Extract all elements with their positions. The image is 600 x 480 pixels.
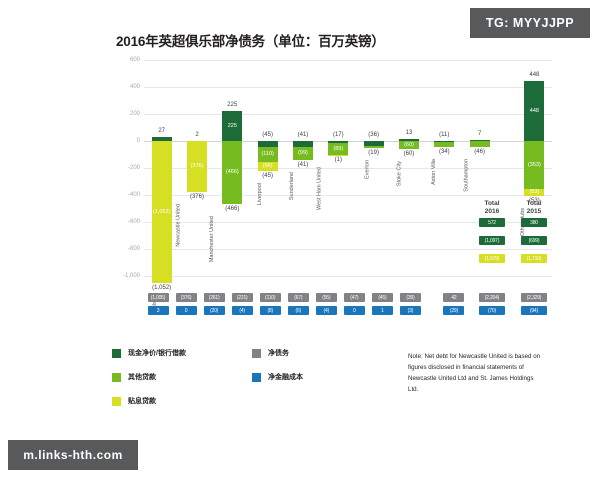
stacked-bar[interactable]: (89) — [328, 60, 348, 276]
row-value-pill: (4) — [232, 306, 253, 315]
row-total-pill: (94) — [521, 306, 547, 315]
category-label: Southampton — [463, 159, 469, 192]
bar-slot: (45)(45)Liverpool(110)(66) — [250, 60, 285, 276]
bar-segment-label: (66) — [258, 163, 278, 169]
chart-title: 2016年英超俱乐部净债务（单位：百万英镑） — [116, 30, 552, 50]
bar-slot: (36)(19)Everton — [356, 60, 391, 276]
category-label: West Ham United — [317, 167, 323, 210]
legend-label: 贴息贷款 — [128, 396, 156, 406]
row-cell: (110) — [256, 293, 284, 302]
screenshot-root: TG: MYYJJPP m.links-hth.com 2016年英超俱乐部净债… — [0, 0, 600, 480]
row-value-pill: 3 — [148, 306, 169, 315]
row-value-pill: (45) — [372, 293, 393, 302]
row-cell: (1,005) — [144, 293, 172, 302]
bar-segment: 448 — [524, 81, 544, 141]
row-value-pill: (1,005) — [148, 293, 169, 302]
row-total-cell: (2,329) — [516, 293, 552, 302]
y-tick-label: 600 — [130, 57, 140, 63]
y-tick-label: -1,000 — [123, 273, 140, 279]
row-value-pill: (55) — [316, 293, 337, 302]
row-cell: (39) — [396, 293, 424, 302]
legend-item[interactable]: 净债务 — [252, 348, 392, 358]
legend-swatch — [112, 349, 121, 358]
stacked-bar[interactable]: (99) — [293, 60, 313, 276]
y-tick-label: -200 — [128, 165, 140, 171]
row-cell: (8) — [256, 306, 284, 315]
category-label: Newcastle United — [176, 204, 182, 247]
totals-pill-row: 572380 — [474, 218, 552, 227]
row-value-pill: (4) — [316, 306, 337, 315]
row-cell: (221) — [228, 293, 256, 302]
bar-segment-label: (89) — [328, 146, 348, 152]
bar-segment: (53) — [524, 189, 544, 196]
row-cell: (20) — [200, 306, 228, 315]
row-total-cell: (94) — [516, 306, 552, 315]
bar-segment-label: 225 — [222, 123, 242, 129]
bar-segment — [434, 142, 454, 147]
totals-header: Total 2016 Total 2015 — [474, 200, 552, 216]
row-cell: (261) — [200, 293, 228, 302]
row-totals: (70)(94) — [474, 306, 552, 315]
bar-slot: 13(60)Stoke City(60) — [391, 60, 426, 276]
stacked-bar[interactable] — [434, 60, 454, 276]
row-cell: (67) — [284, 293, 312, 302]
row-cell: 1 — [368, 306, 396, 315]
footnote: Note: Net debt for Newcastle United is b… — [408, 352, 543, 395]
row-total-pill: (70) — [479, 306, 505, 315]
row-cell: 0 — [172, 306, 200, 315]
row-cell: (47) — [340, 293, 368, 302]
legend-label: 净债务 — [268, 348, 289, 358]
bar-segment: (99) — [293, 147, 313, 160]
y-tick-label: 200 — [130, 111, 140, 117]
bar-slot: 27(1,052)Chelsea(1,052) — [144, 60, 179, 276]
y-tick-label: -800 — [128, 246, 140, 252]
legend-item[interactable]: 净金融成本 — [252, 372, 392, 382]
totals-cell: 572 — [474, 218, 510, 227]
stacked-bar[interactable]: (110)(66) — [258, 60, 278, 276]
legend-column-left: 现金净价/银行借款其他贷款贴息贷款 — [112, 348, 252, 420]
legend-swatch — [112, 397, 121, 406]
row-cell: 0 — [340, 306, 368, 315]
legend-swatch — [112, 373, 121, 382]
row-value-pill: (29) — [443, 306, 464, 315]
stacked-bar[interactable]: (1,052) — [152, 60, 172, 276]
bar-segment: (466) — [222, 141, 242, 204]
row-cell: (4) — [312, 306, 340, 315]
y-tick-label: 0 — [137, 138, 140, 144]
bar-segment-label: (60) — [399, 142, 419, 148]
row-cell: (29) — [440, 306, 468, 315]
bar-segment: (376) — [187, 141, 207, 192]
row-value-pill: (3) — [400, 306, 421, 315]
row-total-pill: (2,204) — [479, 293, 505, 302]
row-cell: (376) — [172, 293, 200, 302]
totals-cell: (1,097) — [474, 236, 510, 245]
totals-pill: (1,710) — [521, 254, 547, 263]
row-cell: 42 — [440, 293, 468, 302]
row-value-pill: 0 — [344, 306, 365, 315]
bar-segment — [470, 141, 490, 147]
totals-pill-row: (1,679)(1,710) — [474, 254, 552, 263]
bar-segment-label: (1,052) — [152, 209, 172, 215]
bar-segment-label: (99) — [293, 150, 313, 156]
y-axis-labels: 6004002000-200-400-600-800-1,000 — [112, 60, 142, 276]
row-cell: 3 — [144, 306, 172, 315]
bar-segment: 225 — [222, 111, 242, 141]
totals-pill: 572 — [479, 218, 505, 227]
row-value-pill: 42 — [443, 293, 464, 302]
row-value-pill: (8) — [260, 306, 281, 315]
totals-cell: 380 — [516, 218, 552, 227]
legend-item[interactable]: 其他贷款 — [112, 372, 252, 382]
row-cell: (4) — [228, 306, 256, 315]
row-total-cell: (70) — [474, 306, 510, 315]
row-value-pill: (6) — [288, 306, 309, 315]
row-total-cell: (2,204) — [474, 293, 510, 302]
row-cell: (3) — [396, 306, 424, 315]
totals-pill: (1,097) — [479, 236, 505, 245]
data-table-rows: (1,005)(376)(261)(221)(110)(67)(55)(47)(… — [112, 292, 552, 316]
row-total-pill: (2,329) — [521, 293, 547, 302]
stacked-bar[interactable]: 225(466) — [222, 60, 242, 276]
bar-slot: (41)(41)Sunderland(99) — [285, 60, 320, 276]
totals-pill: (1,679) — [479, 254, 505, 263]
bar-slot: (17)(1)West Ham United(89) — [321, 60, 356, 276]
bar-segment: (353) — [524, 141, 544, 189]
bar-bottom-label: (1,052) — [152, 285, 171, 291]
stacked-bar[interactable]: (376) — [187, 60, 207, 276]
total-2015-header: Total 2015 — [516, 200, 552, 216]
bar-segment-label: (53) — [524, 189, 544, 195]
bar-slot: 225(466)Manchester United225(466) — [215, 60, 250, 276]
totals-pill-row: (1,097)(699) — [474, 236, 552, 245]
legend: 现金净价/银行借款其他贷款贴息贷款净债务净金融成本 — [112, 348, 392, 420]
totals-pill: (699) — [521, 236, 547, 245]
legend-swatch — [252, 373, 261, 382]
totals-cell: (1,710) — [516, 254, 552, 263]
legend-label: 其他贷款 — [128, 372, 156, 382]
bar-segment: (66) — [258, 162, 278, 171]
row-value-pill: (261) — [204, 293, 225, 302]
bar-segment-label: 448 — [524, 108, 544, 114]
row-value-pill: 1 — [372, 306, 393, 315]
legend-column-right: 净债务净金融成本 — [252, 348, 392, 396]
plot-area: 6004002000-200-400-600-800-1,000 27(1,05… — [112, 60, 552, 288]
totals-cell: (1,679) — [474, 254, 510, 263]
category-label: Manchester United — [209, 216, 215, 262]
row-value-pill: (376) — [176, 293, 197, 302]
table-row: 30(20)(4)(8)(6)(4)01(3)(29)(70)(94) — [112, 305, 552, 316]
legend-swatch — [252, 349, 261, 358]
row-cell: (55) — [312, 293, 340, 302]
row-value-pill: (47) — [344, 293, 365, 302]
table-row: (1,005)(376)(261)(221)(110)(67)(55)(47)(… — [112, 292, 552, 303]
row-value-pill: (39) — [400, 293, 421, 302]
row-cell: (45) — [368, 293, 396, 302]
row-value-pill: (110) — [260, 293, 281, 302]
stacked-bar[interactable] — [364, 60, 384, 276]
row-totals: (2,204)(2,329) — [474, 293, 552, 302]
bar-segment: (1,052) — [152, 141, 172, 283]
bar-segment: (110) — [258, 147, 278, 162]
bar-segment — [364, 146, 384, 149]
bar-segment-label: (376) — [187, 163, 207, 169]
grid-line — [144, 276, 552, 277]
y-tick-label: -400 — [128, 192, 140, 198]
totals-cell: (699) — [516, 236, 552, 245]
row-value-pill: (20) — [204, 306, 225, 315]
totals-pill: 380 — [521, 218, 547, 227]
y-tick-label: 400 — [130, 84, 140, 90]
row-value-pill: (67) — [288, 293, 309, 302]
bar-segment: (60) — [399, 141, 419, 149]
y-tick-label: -600 — [128, 219, 140, 225]
legend-label: 现金净价/银行借款 — [128, 348, 186, 358]
bar-segment: (89) — [328, 143, 348, 155]
row-value-pill: 0 — [176, 306, 197, 315]
legend-label: 净金融成本 — [268, 372, 303, 382]
stacked-bar[interactable]: (60) — [399, 60, 419, 276]
bar-segment-label: (110) — [258, 151, 278, 157]
bar-slot: (11)(34)Aston Villa — [427, 60, 462, 276]
legend-item[interactable]: 现金净价/银行借款 — [112, 348, 252, 358]
row-cell: (6) — [284, 306, 312, 315]
legend-item[interactable]: 贴息贷款 — [112, 396, 252, 406]
bar-segment-label: (353) — [524, 162, 544, 168]
bar-segment-label: (466) — [222, 169, 242, 175]
row-value-pill: (221) — [232, 293, 253, 302]
total-2016-header: Total 2016 — [474, 200, 510, 216]
